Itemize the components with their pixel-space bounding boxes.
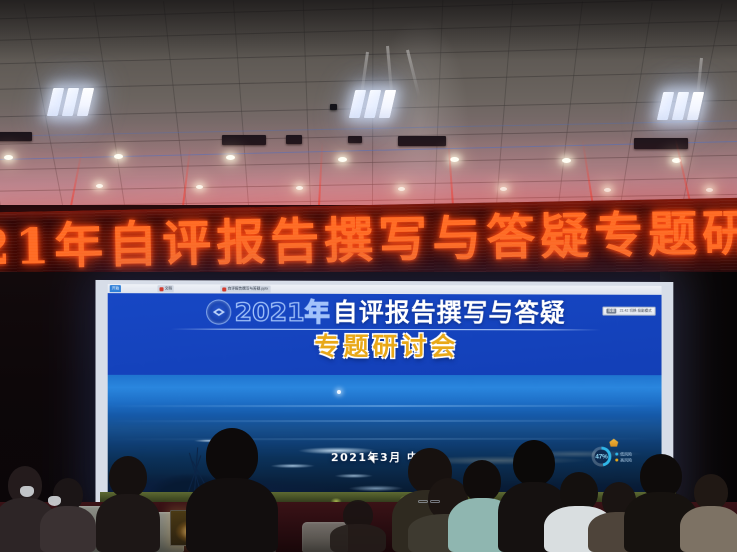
person-head — [109, 456, 147, 498]
fluorescent-panel-light — [349, 90, 396, 118]
person-torso — [40, 506, 96, 552]
face-mask — [48, 496, 61, 506]
audience-member — [680, 474, 737, 552]
app-favicon-icon — [223, 287, 227, 291]
moon-icon — [337, 390, 341, 394]
person-torso — [330, 524, 386, 552]
conference-hall-scene: 21年自评报告撰写与答疑专题研讨 开始 文档 自评报告撰写与答疑.pptx — [0, 0, 737, 552]
taskbar-tab-start[interactable]: 开始 — [110, 285, 121, 292]
ceiling-sensor — [330, 104, 337, 110]
eyeglasses-icon — [430, 500, 440, 503]
audience-member — [330, 500, 386, 552]
fluorescent-panel-light — [47, 88, 94, 116]
slide-title-row: 2021年 自评报告撰写与答疑 — [108, 298, 662, 326]
university-emblem-icon — [206, 299, 231, 324]
person-head — [463, 460, 501, 502]
taskbar-tab-label: 文档 — [165, 285, 172, 292]
slide-subtitle: 专题研讨会 — [108, 332, 662, 363]
audience-member — [96, 456, 160, 552]
audience-foreground — [0, 402, 737, 552]
eyeglasses-icon — [418, 500, 428, 503]
taskbar-tab-label: 开始 — [112, 285, 119, 292]
taskbar-tab-documents[interactable]: 文档 — [158, 285, 174, 292]
led-banner-glow-spill — [0, 120, 737, 205]
person-head — [206, 428, 258, 484]
person-torso — [186, 478, 278, 552]
audience-member — [40, 478, 96, 552]
ceiling — [0, 0, 737, 205]
taskbar-tab-presentation[interactable]: 自评报告撰写与答疑.pptx — [221, 285, 271, 292]
slide-title-year: 2021年 — [235, 299, 330, 326]
taskbar-tab-label: 自评报告撰写与答疑.pptx — [228, 285, 268, 292]
person-torso — [96, 494, 160, 552]
audience-member — [186, 428, 278, 552]
app-favicon-icon — [160, 287, 164, 291]
slide-header: 2021年 自评报告撰写与答疑 专题研讨会 — [108, 298, 662, 362]
person-torso — [680, 506, 737, 552]
face-mask — [20, 486, 34, 497]
person-head — [694, 474, 728, 510]
slide-title-divider — [171, 329, 601, 331]
slide-title-main: 自评报告撰写与答疑 — [333, 299, 566, 327]
